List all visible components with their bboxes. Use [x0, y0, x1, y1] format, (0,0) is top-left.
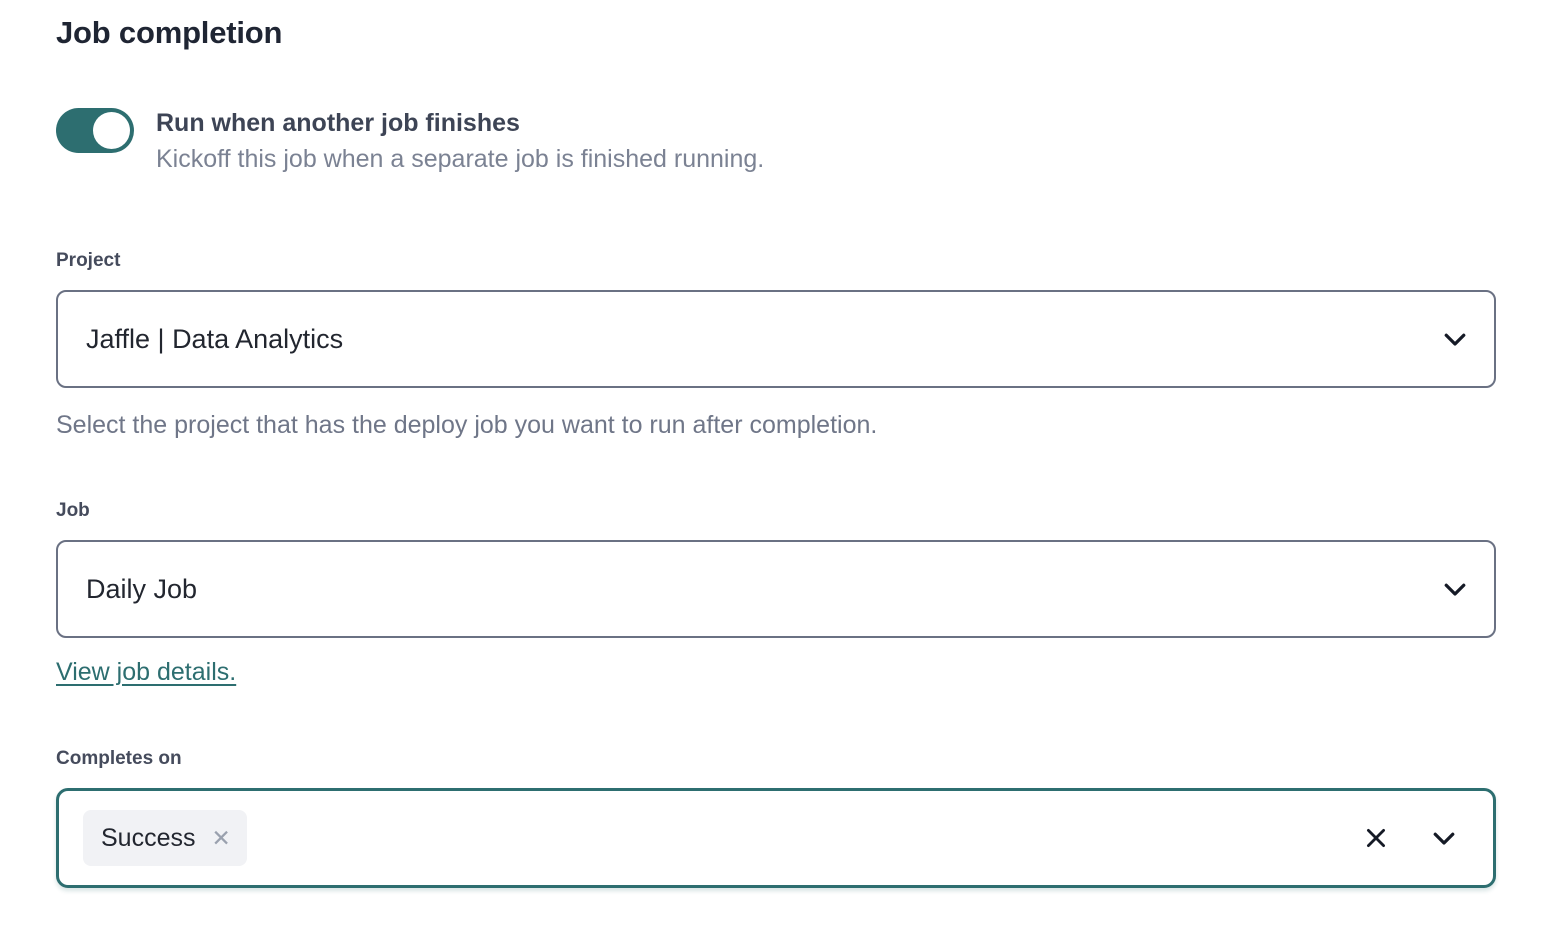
job-select-value: Daily Job: [86, 573, 1438, 605]
job-field-label: Job: [56, 500, 90, 523]
clear-icon[interactable]: [1361, 823, 1391, 853]
toggle-knob: [93, 112, 130, 149]
completes-on-multiselect[interactable]: Success ✕: [56, 788, 1496, 888]
chip-success[interactable]: Success ✕: [83, 810, 247, 866]
run-when-another-job-finishes-row: Run when another job finishes Kickoff th…: [56, 106, 1496, 176]
completes-on-field-label: Completes on: [56, 748, 182, 771]
toggle-description: Kickoff this job when a separate job is …: [156, 143, 764, 176]
chevron-down-icon[interactable]: [1427, 821, 1461, 855]
page-title: Job completion: [56, 14, 282, 51]
run-when-another-job-finishes-toggle[interactable]: [56, 108, 134, 153]
completes-on-actions: [1361, 821, 1471, 855]
project-field-label: Project: [56, 250, 120, 273]
chevron-down-icon[interactable]: [1438, 322, 1472, 356]
chip-label: Success: [101, 826, 195, 851]
chevron-down-icon[interactable]: [1438, 572, 1472, 606]
toggle-text-group: Run when another job finishes Kickoff th…: [156, 106, 764, 176]
job-select[interactable]: Daily Job: [56, 540, 1496, 638]
completes-on-selected-chips: Success ✕: [83, 810, 1361, 866]
job-completion-panel: Job completion Run when another job fini…: [0, 0, 1564, 936]
project-select-value: Jaffle | Data Analytics: [86, 323, 1438, 355]
toggle-label: Run when another job finishes: [156, 108, 764, 139]
close-icon[interactable]: ✕: [211, 827, 230, 850]
project-helper-text: Select the project that has the deploy j…: [56, 409, 877, 442]
project-select[interactable]: Jaffle | Data Analytics: [56, 290, 1496, 388]
view-job-details-link[interactable]: View job details.: [56, 658, 236, 687]
